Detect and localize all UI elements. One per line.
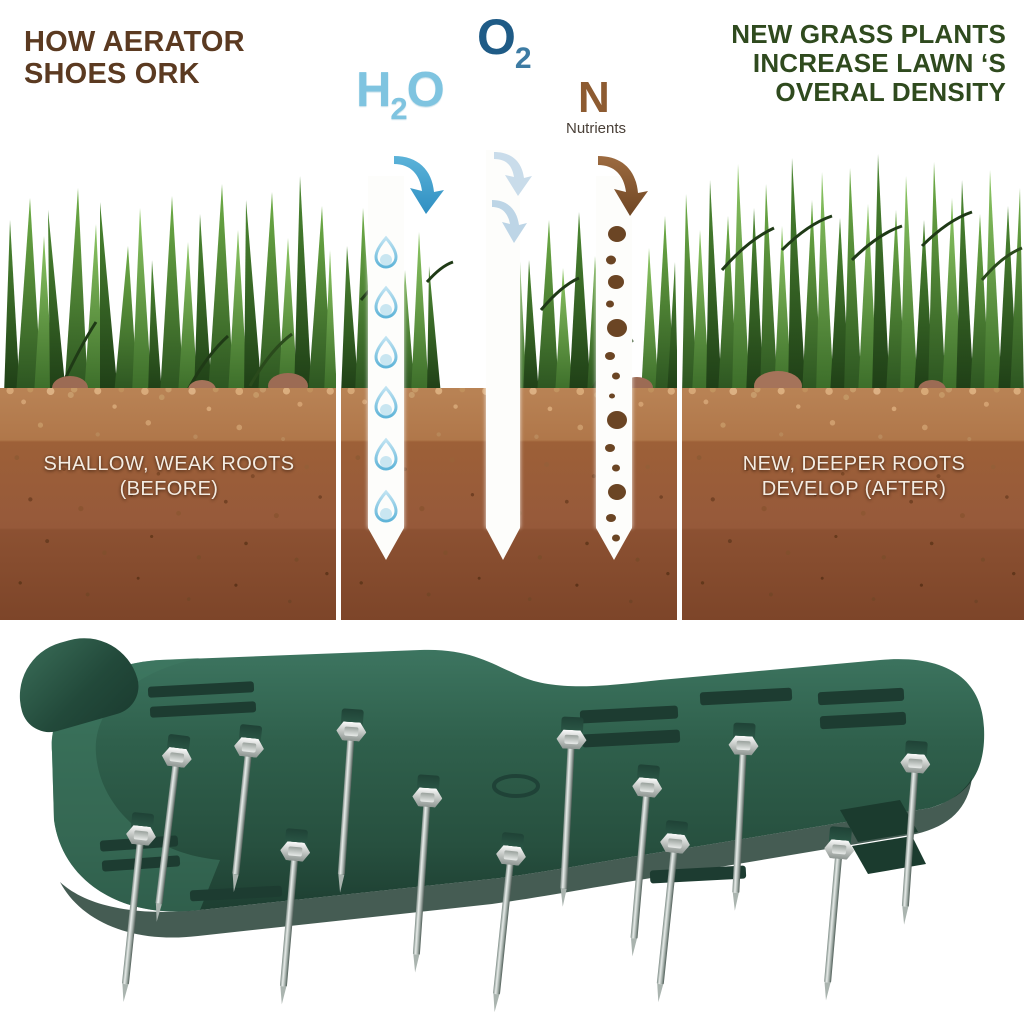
grass-segment-left [0, 150, 337, 395]
oxygen-inflow-arrow-icon-lower [486, 196, 538, 250]
spike-point [560, 889, 567, 907]
water-formula-subscript: 2 [390, 91, 406, 126]
nutrient-inflow-arrow-icon [590, 150, 664, 222]
nutrients-caption: Nutrients [566, 120, 626, 137]
aerator-infographic-panel: HOW AERATOR SHOES ORK NEW GRASS PLANTS I… [0, 0, 1024, 620]
channel-tip [486, 528, 520, 560]
nutrient-channel [596, 176, 632, 560]
soil-crust-gravel [682, 388, 1024, 396]
oxygen-formula-subscript: 2 [515, 42, 531, 75]
water-inflow-arrow-icon [388, 150, 460, 220]
heading-left: HOW AERATOR SHOES ORK [24, 26, 324, 91]
water-formula-label: H2O [356, 62, 444, 127]
soil-crust-gravel [0, 388, 337, 396]
spike-point [412, 954, 419, 972]
spike-point [337, 874, 344, 892]
soil-caption-after: NEW, DEEPER ROOTS DEVELOP (AFTER) [694, 452, 1014, 502]
water-droplets-svg [368, 176, 404, 560]
nutrient-particles-svg [596, 176, 632, 560]
panel-divider-left [336, 150, 341, 620]
aerator-shoe-sole [0, 620, 1024, 1024]
grass-blades-right-svg [682, 150, 1024, 395]
product-photo-panel [0, 620, 1024, 1024]
oxygen-formula-o: O [477, 9, 515, 65]
oxygen-formula-label: O2 [477, 8, 531, 76]
infographic-page: HOW AERATOR SHOES ORK NEW GRASS PLANTS I… [0, 0, 1024, 1024]
spike-point [732, 893, 739, 911]
heading-right: NEW GRASS PLANTS INCREASE LAWN ‘S OVERAL… [686, 20, 1006, 107]
grass-blades-left-svg [0, 150, 337, 395]
soil-segment-left [0, 388, 337, 620]
soil-segment-right [682, 388, 1024, 620]
water-formula-h: H [356, 63, 390, 117]
water-channel [368, 176, 404, 560]
grass-segment-right [682, 150, 1024, 395]
panel-divider-right [677, 150, 682, 620]
nitrogen-symbol-label: N [578, 73, 610, 123]
soil-caption-before: SHALLOW, WEAK ROOTS (BEFORE) [10, 452, 328, 502]
spike-point [901, 906, 908, 924]
soil-speckle-texture [682, 388, 1024, 620]
soil-speckle-texture [0, 388, 337, 620]
water-formula-o: O [407, 63, 444, 117]
